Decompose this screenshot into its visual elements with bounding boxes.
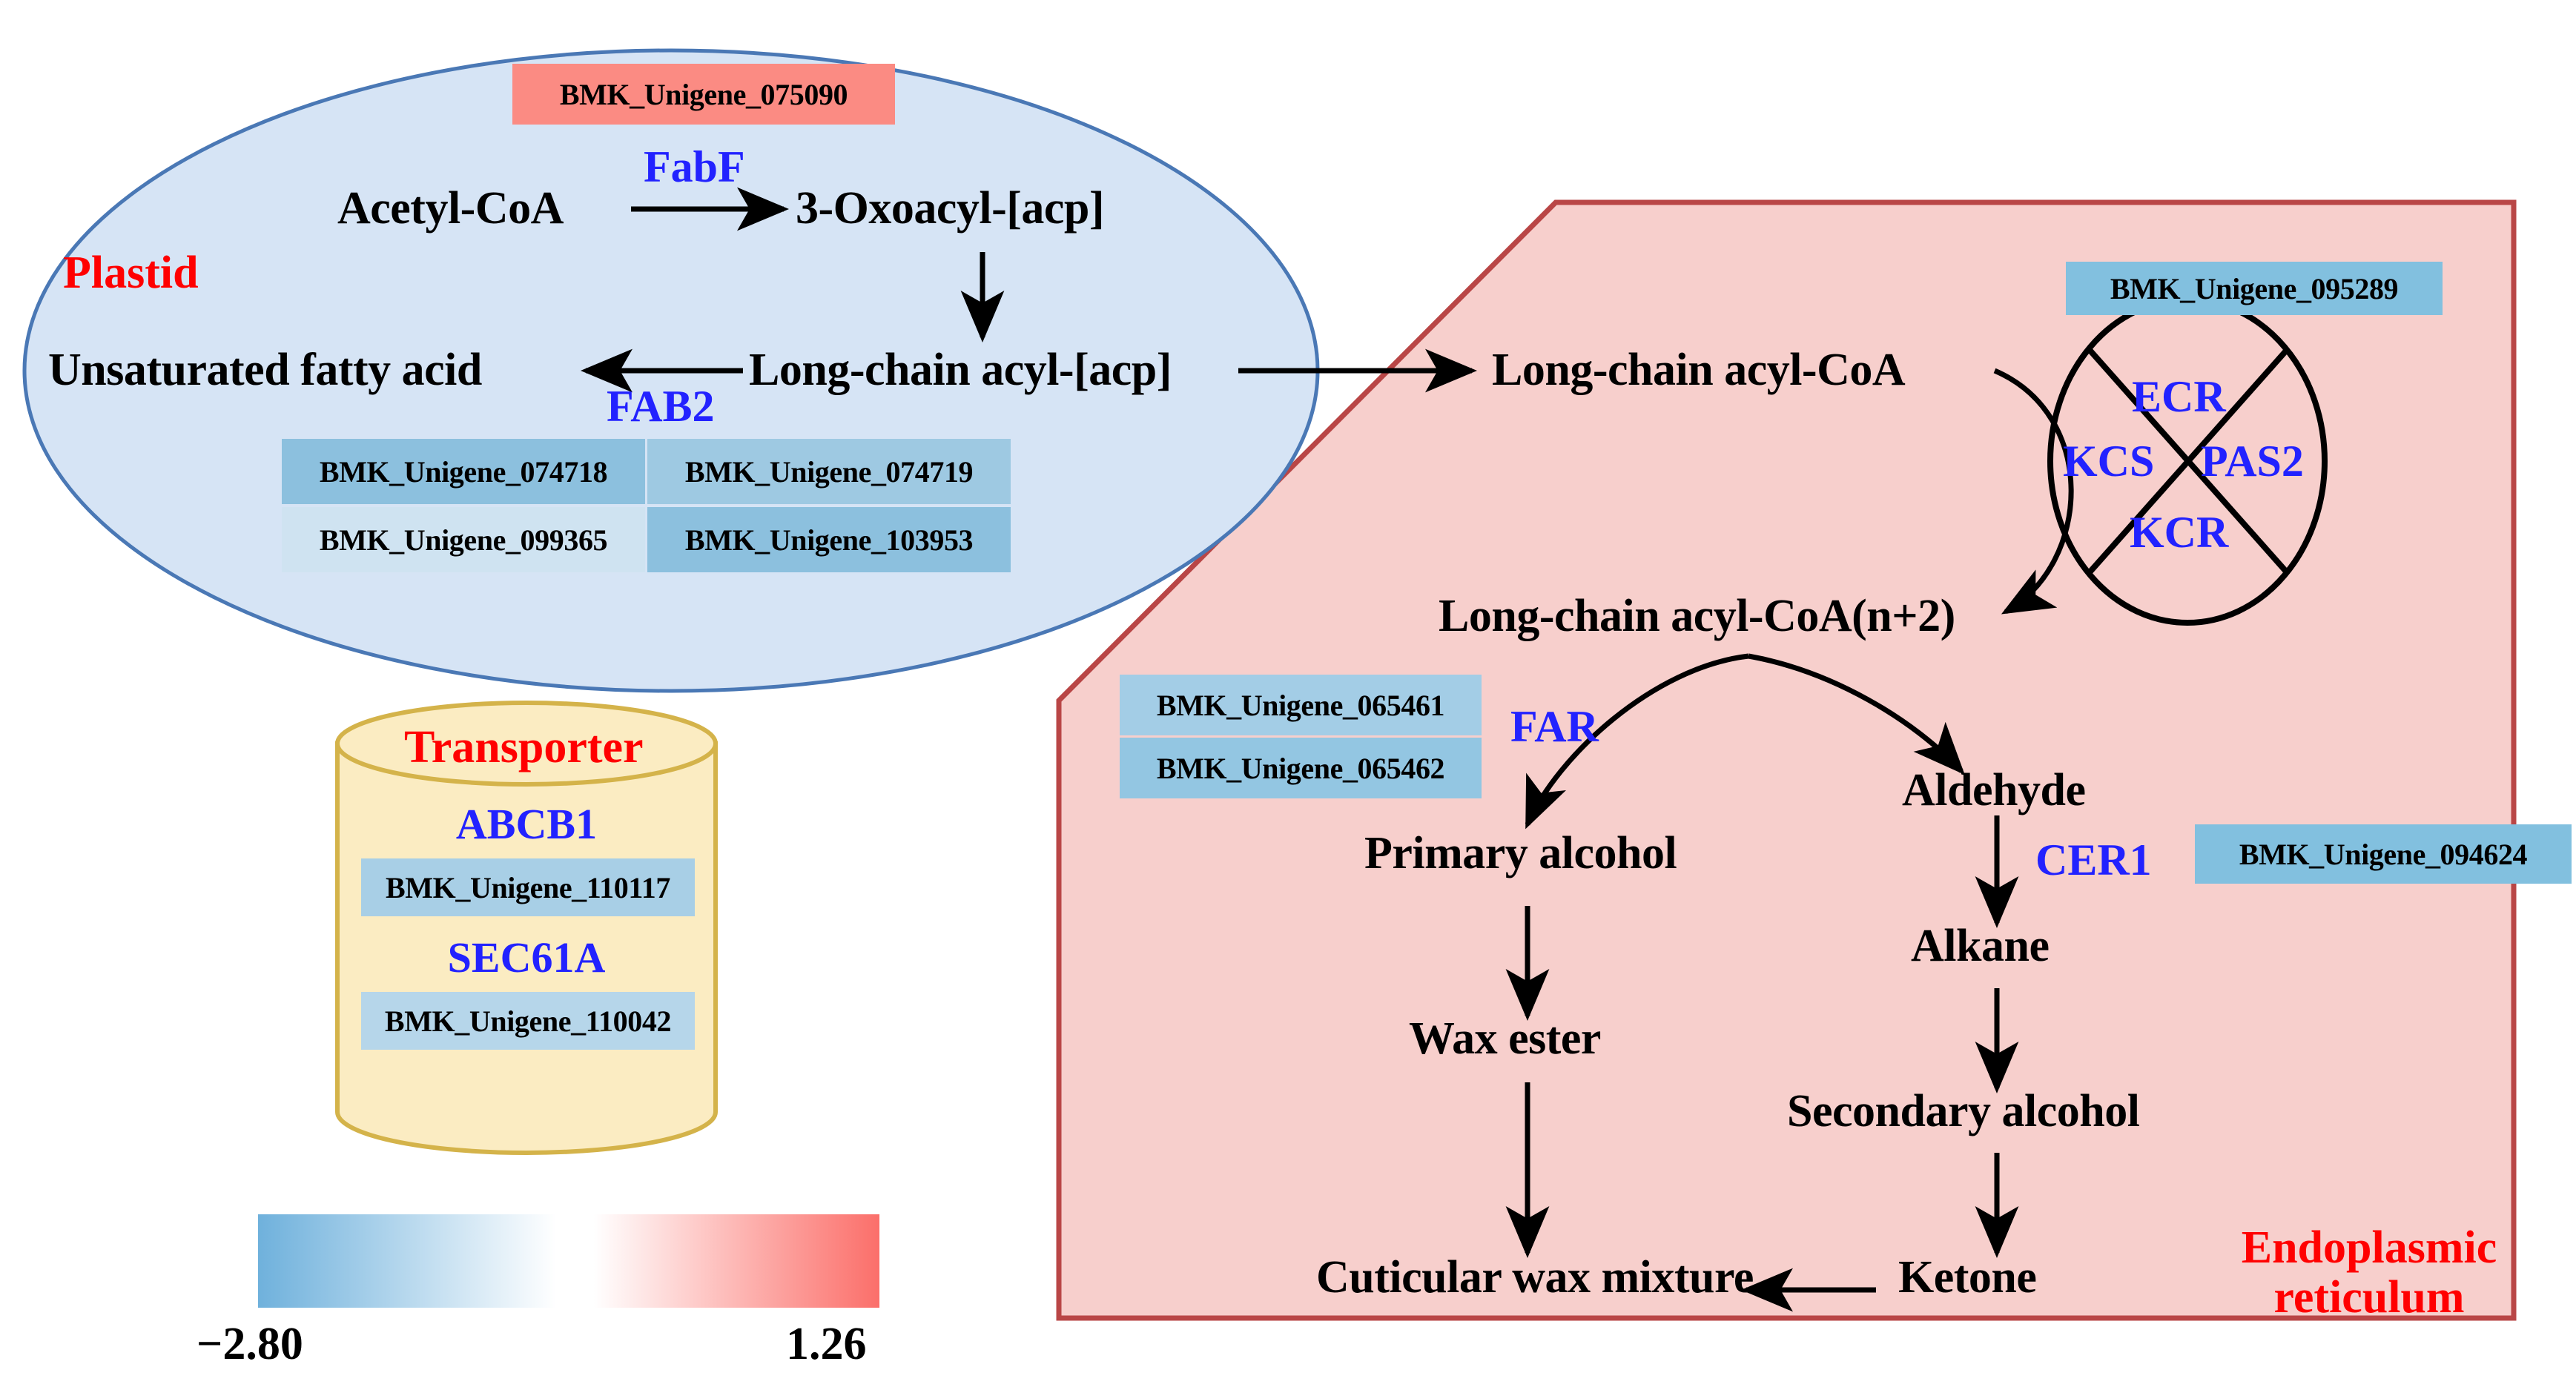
enzyme-label-sec61a: SEC61A [337, 933, 716, 982]
gene-box-099365[interactable]: BMK_Unigene_099365 [282, 507, 645, 572]
metabolite-long-chain-acyl-coa-n2: Long-chain acyl-CoA(n+2) [1439, 593, 1955, 639]
legend-min-label: −2.80 [196, 1318, 303, 1371]
metabolite-3-oxoacyl-acp: 3-Oxoacyl-[acp] [796, 185, 1104, 231]
enzyme-label-far: FAR [1510, 704, 1599, 749]
pathway-diagram: Plastid BMK_Unigene_075090 FabF Acetyl-C… [0, 0, 2576, 1390]
metabolite-long-chain-acyl-coa: Long-chain acyl-CoA [1492, 347, 1905, 393]
gene-box-103953[interactable]: BMK_Unigene_103953 [647, 507, 1011, 572]
gene-box-095289[interactable]: BMK_Unigene_095289 [2066, 262, 2443, 315]
transporter-label: Transporter [404, 723, 644, 772]
gene-box-110117[interactable]: BMK_Unigene_110117 [361, 858, 695, 916]
arrow-lccoa-n2-to-aldehyde [1748, 656, 1961, 771]
metabolite-primary-alcohol: Primary alcohol [1364, 830, 1677, 876]
metabolite-aldehyde: Aldehyde [1902, 767, 2085, 813]
enzyme-label-kcr: KCR [2130, 510, 2228, 555]
enzyme-label-fab2: FAB2 [607, 384, 715, 428]
enzyme-label-abcb1: ABCB1 [337, 799, 716, 849]
enzyme-label-ecr: ECR [2132, 374, 2226, 419]
gene-box-110042[interactable]: BMK_Unigene_110042 [361, 992, 695, 1050]
metabolite-unsaturated-fatty-acid: Unsaturated fatty acid [48, 347, 482, 393]
gene-box-074719[interactable]: BMK_Unigene_074719 [647, 439, 1011, 504]
metabolite-secondary-alcohol: Secondary alcohol [1787, 1088, 2139, 1134]
metabolite-cuticular-wax-mixture: Cuticular wax mixture [1316, 1254, 1754, 1300]
gene-box-065462[interactable]: BMK_Unigene_065462 [1120, 738, 1482, 798]
metabolite-alkane: Alkane [1911, 923, 2049, 969]
enzyme-label-pas2: PAS2 [2201, 439, 2304, 483]
metabolite-wax-ester: Wax ester [1409, 1016, 1601, 1062]
er-label-line1: Endoplasmic [2242, 1222, 2497, 1273]
gene-box-094624[interactable]: BMK_Unigene_094624 [2195, 824, 2572, 884]
endoplasmic-reticulum-label: Endoplasmic reticulum [2239, 1223, 2499, 1323]
metabolite-acetyl-coa: Acetyl-CoA [337, 185, 564, 231]
gene-box-074718[interactable]: BMK_Unigene_074718 [282, 439, 645, 504]
enzyme-label-cer1: CER1 [2035, 838, 2152, 882]
legend-max-label: 1.26 [786, 1318, 867, 1371]
enzyme-label-kcs: KCS [2063, 439, 2154, 483]
metabolite-ketone: Ketone [1898, 1254, 2036, 1300]
arrow-lccoa-to-lccoa-n2 [1995, 371, 2071, 612]
gene-box-065461[interactable]: BMK_Unigene_065461 [1120, 675, 1482, 735]
enzyme-label-fabf: FabF [644, 145, 745, 189]
er-label-line2: reticulum [2273, 1272, 2464, 1323]
gene-box-075090[interactable]: BMK_Unigene_075090 [512, 64, 895, 125]
metabolite-long-chain-acyl-acp: Long-chain acyl-[acp] [749, 347, 1172, 393]
plastid-label: Plastid [63, 248, 199, 298]
